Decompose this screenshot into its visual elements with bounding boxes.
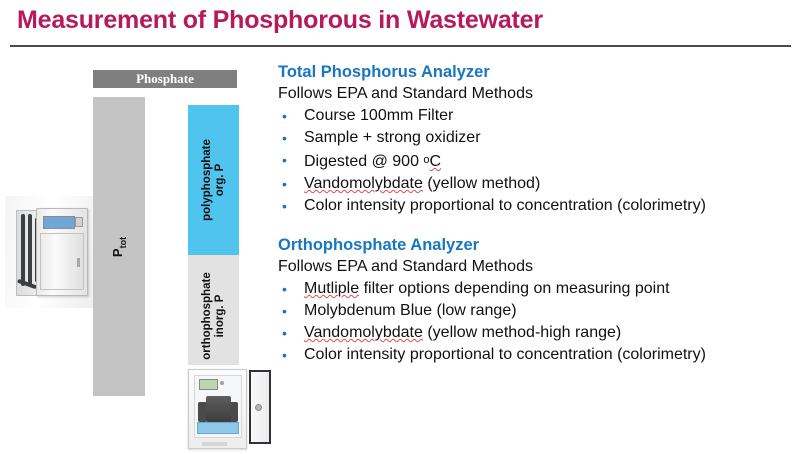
- list-item: Vandomolybdate (yellow method-high range…: [278, 322, 794, 344]
- misspelled-word: Vandomolybdate: [304, 175, 423, 192]
- misspelled-word: C: [430, 153, 442, 170]
- tube-vertical-mid: [28, 214, 32, 286]
- orthophosphate-label-line2: inorg. P: [214, 272, 227, 360]
- cabinet-open-door: [249, 370, 271, 444]
- orthophosphate-label: orthophosphate inorg. P: [201, 272, 227, 360]
- section-orthophosphate: Orthophosphate Analyzer Follows EPA and …: [278, 235, 794, 366]
- total-phosphorus-analyzer-photo: [5, 196, 93, 308]
- cabinet-indicator-light: [220, 381, 224, 385]
- cabinet-reagent-drum: [206, 396, 231, 422]
- phosphate-header-bar: Phosphate: [93, 70, 237, 88]
- orthophosphate-analyzer-photo: [186, 365, 276, 451]
- analyzer-door: [40, 233, 84, 290]
- p-tot-label: Ptot: [110, 236, 128, 256]
- cabinet-interior: [194, 375, 242, 438]
- section-heading: Orthophosphate Analyzer: [278, 235, 794, 255]
- content-column: Total Phosphorus Analyzer Follows EPA an…: [278, 62, 794, 380]
- misspelled-word: Vandomolybdate: [304, 324, 423, 341]
- cabinet-nameplate: [202, 442, 227, 446]
- cabinet-door-handle: [255, 404, 262, 411]
- list-item: Vandomolybdate (yellow method): [278, 173, 794, 195]
- list-item: Mutliple filter options depending on mea…: [278, 278, 794, 300]
- orthophosphate-segment: orthophosphate inorg. P: [188, 255, 239, 376]
- phosphate-fraction-column: polyphosphate org. P orthophosphate inor…: [188, 105, 239, 376]
- bullet-list: Course 100mm Filter Sample + strong oxid…: [278, 105, 794, 217]
- polyphosphate-label: polyphosphate org. P: [201, 139, 227, 221]
- list-item: Course 100mm Filter: [278, 105, 794, 127]
- cabinet-display: [199, 379, 218, 390]
- analyzer-knob: [75, 217, 83, 227]
- list-item: Color intensity proportional to concentr…: [278, 344, 794, 366]
- analyzer-enclosure: [36, 208, 88, 296]
- list-item: Molybdenum Blue (low range): [278, 300, 794, 322]
- section-heading: Total Phosphorus Analyzer: [278, 62, 794, 82]
- orthophosphate-label-line1: orthophosphate: [201, 272, 214, 360]
- page-title: Measurement of Phosphorous in Wastewater: [17, 6, 543, 35]
- p-tot-symbol: P: [110, 248, 125, 257]
- section-subtitle: Follows EPA and Standard Methods: [278, 256, 794, 277]
- p-tot-subscript: tot: [118, 236, 128, 248]
- list-item: Sample + strong oxidizer: [278, 127, 794, 149]
- polyphosphate-label-line1: polyphosphate: [201, 139, 214, 221]
- slide-canvas: Measurement of Phosphorous in Wastewater…: [0, 0, 800, 454]
- section-subtitle: Follows EPA and Standard Methods: [278, 83, 794, 104]
- cabinet-collection-tray: [197, 422, 239, 434]
- analyzer-door-handle: [77, 258, 80, 267]
- polyphosphate-segment: polyphosphate org. P: [188, 105, 239, 255]
- analyzer-display: [43, 216, 75, 229]
- list-item: Color intensity proportional to concentr…: [278, 195, 794, 217]
- bullet-list: Mutliple filter options depending on mea…: [278, 278, 794, 366]
- list-item: Digested @ 900 oC: [278, 149, 794, 173]
- polyphosphate-label-line2: org. P: [214, 139, 227, 221]
- cabinet-enclosure: [188, 369, 247, 449]
- misspelled-word: Mutliple: [304, 280, 359, 297]
- section-total-phosphorus: Total Phosphorus Analyzer Follows EPA an…: [278, 62, 794, 217]
- tube-vertical-left: [21, 214, 25, 286]
- title-divider: [10, 45, 791, 47]
- total-phosphorus-column: Ptot: [93, 97, 145, 396]
